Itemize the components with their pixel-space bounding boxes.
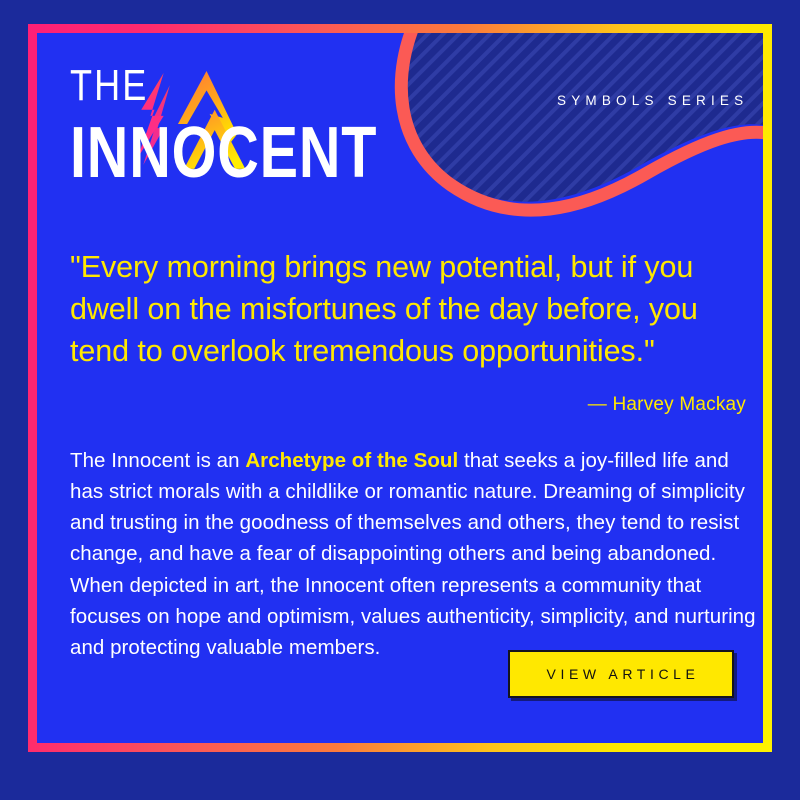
body-lead: The Innocent is an: [70, 449, 245, 472]
title-eyebrow: THE: [70, 64, 385, 108]
coral-wave: [401, 33, 763, 210]
quote-block: "Every morning brings new potential, but…: [70, 246, 750, 416]
body-rest: that seeks a joy-filled life and has str…: [70, 449, 756, 659]
poster-panel: THE INNOCENT SYMBOLS SERIES "Every morni…: [37, 33, 763, 743]
quote-text: "Every morning brings new potential, but…: [70, 246, 750, 372]
navy-wave-region: [401, 33, 763, 202]
poster-canvas: THE INNOCENT SYMBOLS SERIES "Every morni…: [0, 0, 800, 800]
series-label: SYMBOLS SERIES: [557, 93, 748, 108]
title-main: INNOCENT: [70, 115, 377, 193]
gradient-frame: THE INNOCENT SYMBOLS SERIES "Every morni…: [28, 24, 772, 752]
body-paragraph: The Innocent is an Archetype of the Soul…: [70, 445, 756, 663]
quote-author: — Harvey Mackay: [70, 394, 750, 416]
body-highlight: Archetype of the Soul: [245, 449, 458, 472]
page-title: THE INNOCENT: [70, 64, 454, 193]
view-article-button[interactable]: VIEW ARTICLE: [508, 650, 734, 698]
